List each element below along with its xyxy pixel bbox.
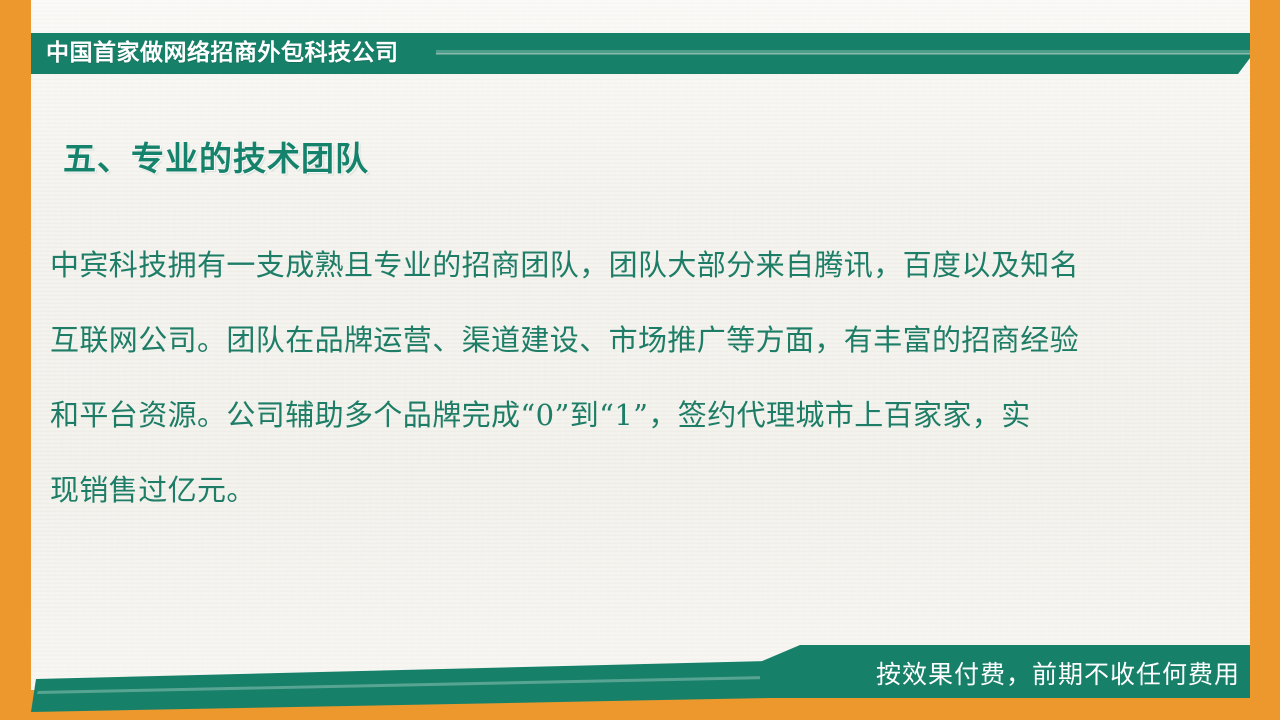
body-line: 互联网公司。团队在品牌运营、渠道建设、市场推广等方面，有丰富的招商经验 — [50, 303, 1182, 378]
body-line: 现销售过亿元。 — [50, 453, 1182, 528]
body-line: 中宾科技拥有一支成熟且专业的招商团队，团队大部分来自腾讯，百度以及知名 — [50, 228, 1182, 303]
slide-canvas: 中国首家做网络招商外包科技公司 按效果付费，前期不收任何费用 五、专业的技术团队… — [0, 0, 1280, 720]
body-line: 和平台资源。公司辅助多个品牌完成“0”到“1”，签约代理城市上百家家，实 — [50, 378, 1182, 453]
section-heading: 五、专业的技术团队 — [63, 132, 369, 180]
body-paragraph: 中宾科技拥有一支成熟且专业的招商团队，团队大部分来自腾讯，百度以及知名 互联网公… — [50, 228, 1182, 528]
